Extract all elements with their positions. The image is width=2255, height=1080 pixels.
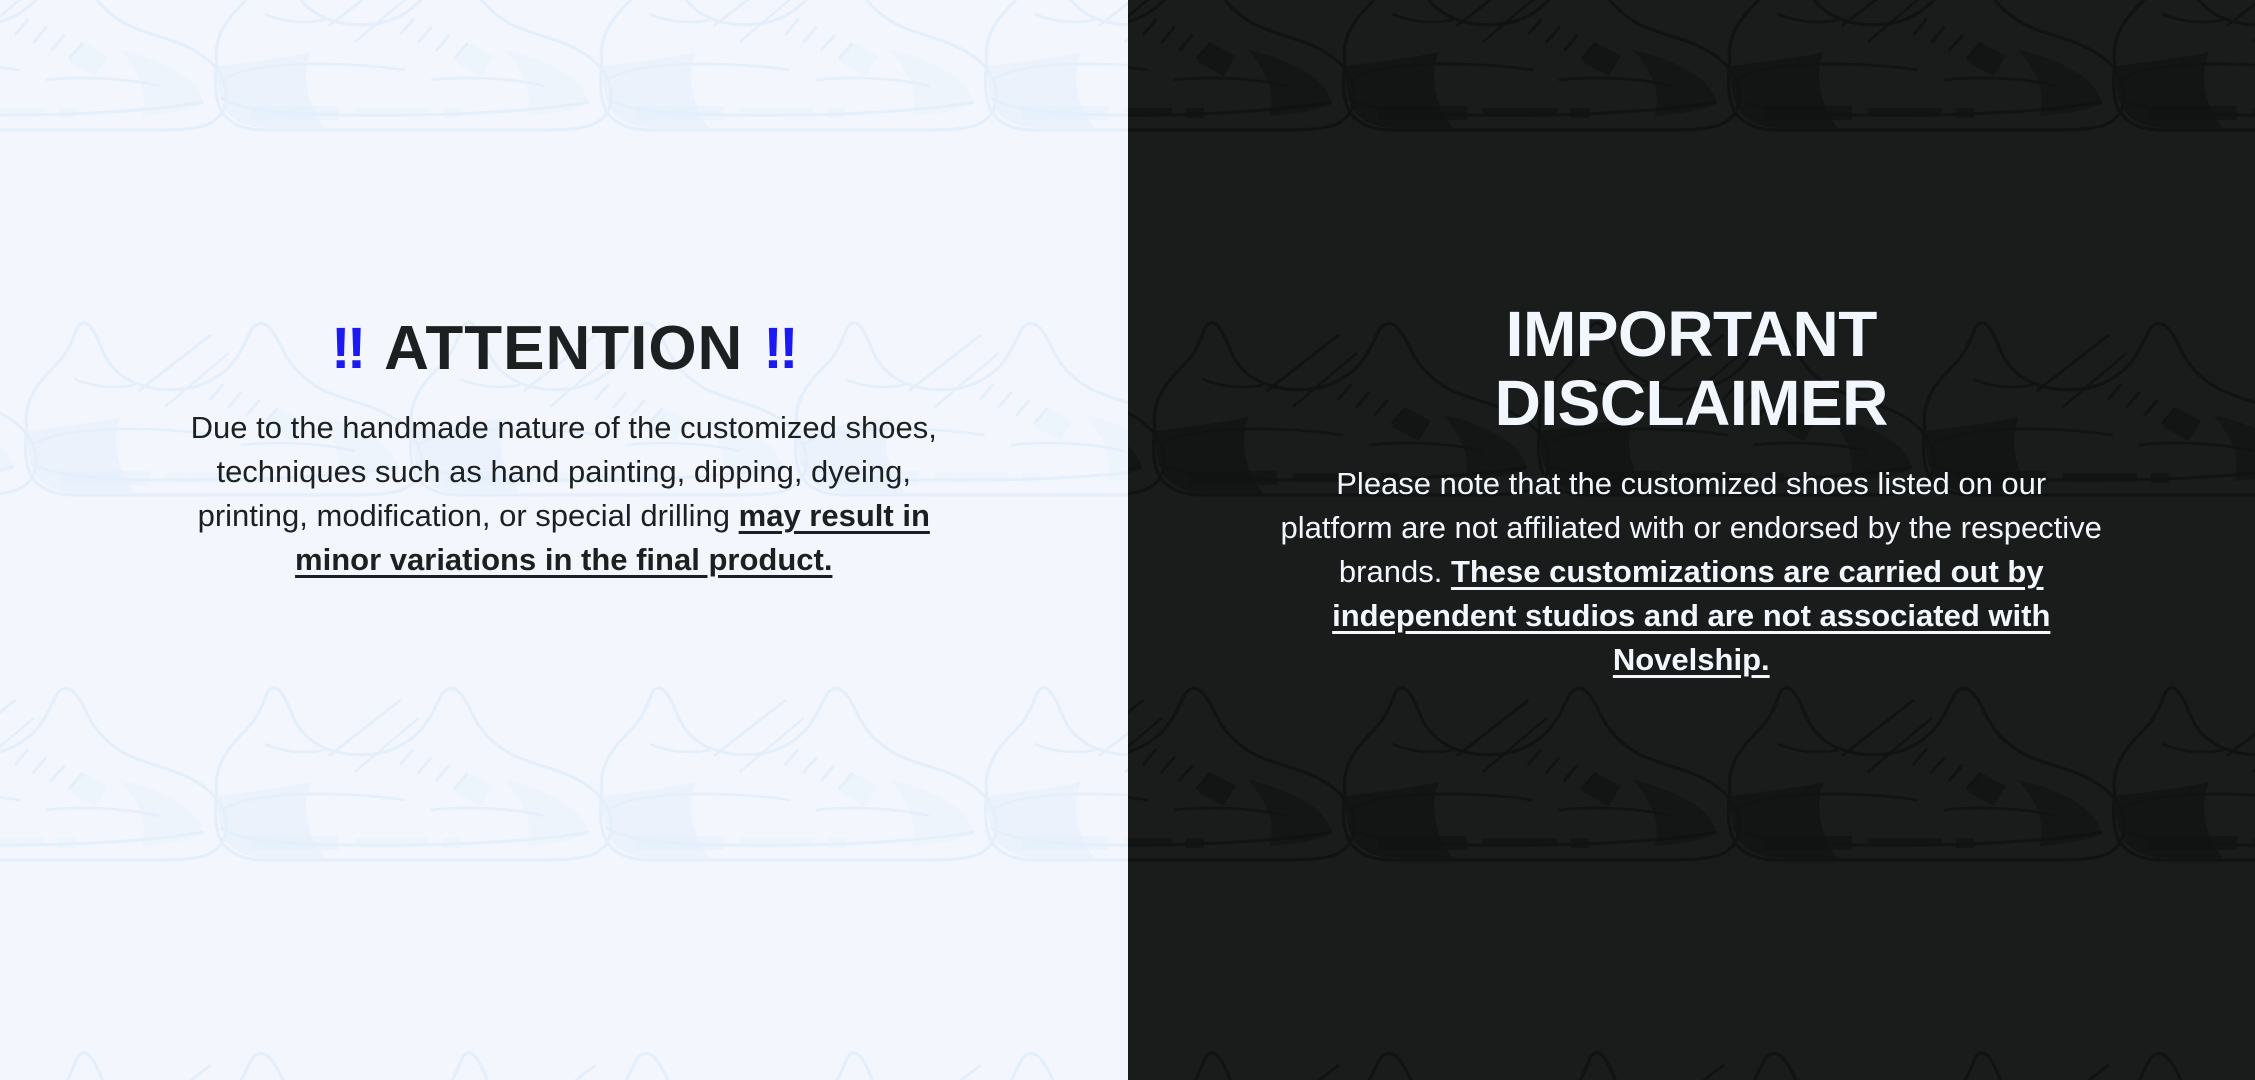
attention-heading-text: ATTENTION [384, 314, 743, 383]
disclaimer-body: Please note that the customized shoes li… [1276, 462, 2106, 682]
disclaimer-panel: IMPORTANT DISCLAIMER Please note that th… [1128, 0, 2255, 1080]
double-exclamation-icon-right: ‼ [763, 316, 796, 381]
disclaimer-content: IMPORTANT DISCLAIMER Please note that th… [1128, 300, 2255, 682]
disclaimer-heading-line1: IMPORTANT [1506, 298, 1877, 370]
double-exclamation-icon-left: ‼ [331, 316, 364, 381]
attention-heading: ‼ATTENTION‼ [0, 318, 1128, 380]
disclaimer-banner: ‼ATTENTION‼ Due to the handmade nature o… [0, 0, 2255, 1080]
disclaimer-heading: IMPORTANT DISCLAIMER [1261, 300, 2121, 438]
disclaimer-heading-line2: DISCLAIMER [1495, 367, 1888, 439]
attention-content: ‼ATTENTION‼ Due to the handmade nature o… [0, 318, 1128, 582]
attention-panel: ‼ATTENTION‼ Due to the handmade nature o… [0, 0, 1128, 1080]
attention-body: Due to the handmade nature of the custom… [164, 406, 964, 582]
